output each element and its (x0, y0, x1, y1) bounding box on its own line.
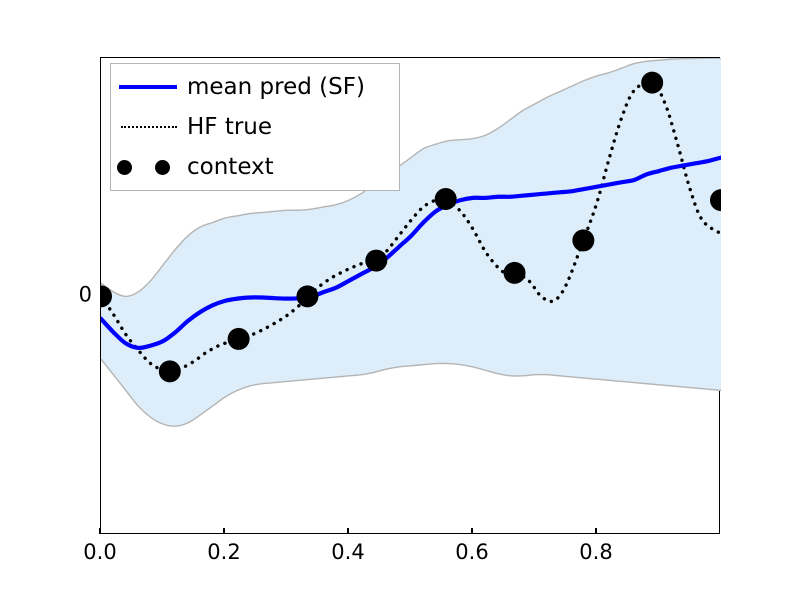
x-tick-mark (99, 528, 100, 534)
context-point-marker (504, 262, 526, 284)
chart-figure: 0.00.20.40.60.80 mean pred (SF) HF true … (0, 0, 800, 600)
x-tick-label: 0.0 (83, 542, 116, 563)
x-tick-label: 0.2 (207, 542, 240, 563)
circle-marker-icon (117, 160, 132, 175)
context-point-marker (365, 250, 387, 272)
context-point-marker (159, 360, 181, 382)
context-point-marker (228, 328, 250, 350)
solid-line-icon (119, 85, 177, 89)
x-tick-mark (223, 528, 224, 534)
x-tick-label: 0.4 (331, 542, 364, 563)
context-point-marker (572, 229, 594, 251)
dotted-line-icon (121, 126, 177, 128)
x-tick-label: 0.8 (579, 542, 612, 563)
x-tick-mark (347, 528, 348, 534)
legend-label-mean-pred: mean pred (SF) (187, 76, 365, 99)
legend-entry-hf-true: HF true (111, 108, 399, 146)
x-tick-label: 0.6 (455, 542, 488, 563)
chart-legend: mean pred (SF) HF true context (110, 63, 400, 191)
legend-entry-mean-pred: mean pred (SF) (111, 68, 399, 106)
context-point-marker (296, 285, 318, 307)
legend-swatch-hf-true (111, 108, 187, 146)
legend-entry-context: context (111, 148, 399, 186)
legend-swatch-mean-pred (111, 68, 187, 106)
y-tick-mark (100, 295, 106, 296)
circle-marker-icon (155, 160, 170, 175)
legend-label-hf-true: HF true (187, 116, 272, 139)
context-point-marker (641, 72, 663, 94)
context-point-marker (435, 188, 457, 210)
y-tick-label: 0 (68, 285, 92, 306)
legend-label-context: context (187, 156, 274, 179)
x-tick-mark (471, 528, 472, 534)
x-tick-mark (595, 528, 596, 534)
legend-swatch-context (111, 148, 187, 186)
